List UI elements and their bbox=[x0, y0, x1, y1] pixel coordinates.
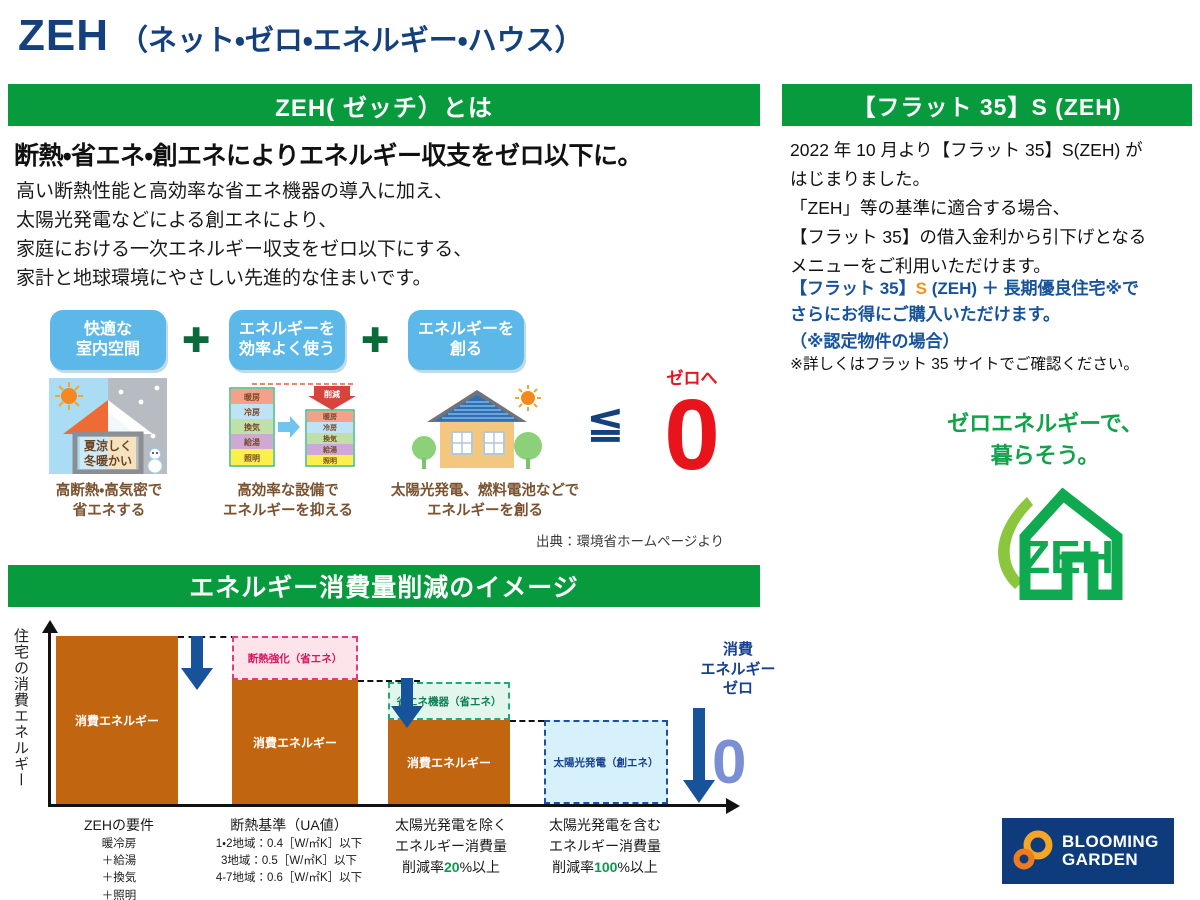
reduction-label-solar: 太陽光発電（創エネ） bbox=[554, 755, 659, 770]
bar-label-1: 消費エネルギー bbox=[75, 712, 159, 729]
svg-text:照明: 照明 bbox=[244, 454, 260, 463]
down-arrow-icon bbox=[682, 708, 716, 804]
x-label-1-sub-2: ＋給湯 bbox=[56, 853, 182, 870]
diagram-caption-1: 高断熱・高気密で省エネする bbox=[24, 482, 194, 521]
x-label-4: 太陽光発電を含む エネルギー消費量 削減率100%以上 bbox=[534, 816, 676, 878]
section-header-chart: エネルギー消費量削減のイメージ bbox=[8, 565, 760, 607]
energy-reduction-icon: 暖房冷房 換気給湯照明 削減 暖房冷房 換気給湯照明 bbox=[228, 378, 358, 474]
chip-generation-line1: エネルギーを bbox=[418, 320, 514, 340]
down-arrow-icon bbox=[390, 678, 424, 730]
reduction-block-insulation: 断熱強化（省エネ） bbox=[232, 636, 358, 680]
x-label-4-sub-1: エネルギー消費量 bbox=[534, 836, 676, 857]
house-label-line1: 夏涼しく bbox=[84, 438, 132, 453]
concept-chip-generation: エネルギーを 創る bbox=[408, 310, 524, 370]
house-label-line2: 冬暖かい bbox=[83, 453, 132, 468]
x-label-1: ZEHの要件 暖冷房 ＋給湯 ＋換気 ＋照明 bbox=[56, 816, 182, 900]
highlight-accent-s: S bbox=[916, 279, 927, 298]
svg-text:照明: 照明 bbox=[323, 456, 337, 465]
zero-target: ゼロへ 0 bbox=[642, 364, 742, 481]
flat35-line-1: 2022 年 10 月より【フラット 35】S(ZEH) が bbox=[790, 136, 1146, 165]
body-paragraph: 高い断熱性能と高効率な省エネ機器の導入に加え、 太陽光発電などによる創エネにより… bbox=[16, 178, 472, 294]
body-line-2: 太陽光発電などによる創エネにより、 bbox=[16, 207, 472, 236]
stack-after: 暖房冷房 換気給湯照明 bbox=[306, 410, 354, 466]
stack-before: 暖房冷房 換気給湯照明 bbox=[230, 388, 274, 466]
body-line-1: 高い断熱性能と高効率な省エネ機器の導入に加え、 bbox=[16, 178, 472, 207]
zeh-slogan: ゼロエネルギーで、 暮らそう。 bbox=[930, 408, 1160, 472]
plus-icon: ✚ bbox=[361, 324, 390, 358]
x-label-4-sub-2: 削減率100%以上 bbox=[534, 857, 676, 878]
brand-name-line1: BLOOMING bbox=[1062, 833, 1159, 851]
chart-y-axis bbox=[48, 628, 51, 806]
less-equal-icon: ≦ bbox=[586, 398, 625, 444]
x-label-4-main: 太陽光発電を含む bbox=[549, 817, 661, 833]
body-line-4: 家計と地球環境にやさしい先進的な住まいです。 bbox=[16, 265, 472, 294]
zeh-concept-diagram: 快適な 室内空間 ✚ エネルギーを 効率よく使う ✚ エネルギーを 創る bbox=[30, 302, 750, 557]
x-label-3-main: 太陽光発電を除く bbox=[395, 817, 507, 833]
flat35-highlight-line-2: さらにお得にご購入いただけます。 bbox=[790, 302, 1139, 328]
x-label-1-main: ZEHの要件 bbox=[84, 817, 154, 833]
diagram-caption-2: 高効率な設備でエネルギーを抑える bbox=[203, 482, 373, 521]
chip-efficiency-line1: エネルギーを bbox=[239, 320, 335, 340]
svg-text:給湯: 給湯 bbox=[322, 445, 337, 454]
zeh-logo-text: ZEH bbox=[1022, 531, 1114, 583]
page-title: ZEH （ネット・ゼロ・エネルギー・ハウス） bbox=[18, 14, 584, 58]
chip-comfort-line2: 室内空間 bbox=[76, 340, 140, 360]
svg-text:冷房: 冷房 bbox=[244, 407, 260, 417]
bar-label-2: 消費エネルギー bbox=[253, 734, 337, 751]
flat35-line-2: はじまりました。 bbox=[790, 165, 1146, 194]
page-title-kana: （ネット・ゼロ・エネルギー・ハウス） bbox=[119, 27, 584, 56]
solar-house-icon bbox=[402, 374, 562, 474]
x-label-3-sub-2: 削減率20%以上 bbox=[382, 857, 520, 878]
x-label-2-main: 断熱基準（UA値） bbox=[230, 817, 347, 833]
chart-x-axis bbox=[48, 804, 728, 807]
lead-statement: 断熱・省エネ・創エネによりエネルギー収支をゼロ以下に。 bbox=[14, 136, 642, 172]
bar-label-3: 消費エネルギー bbox=[407, 754, 491, 771]
reduction-block-solar: 太陽光発電（創エネ） bbox=[544, 720, 668, 804]
flat35-line-3: 「ZEH」等の基準に適合する場合、 bbox=[790, 194, 1146, 223]
svg-text:暖房: 暖房 bbox=[244, 392, 260, 402]
flat35-highlight: 【フラット 35】S (ZEH) ＋ 長期優良住宅※で さらにお得にご購入いただ… bbox=[790, 276, 1139, 355]
chart-zero-value: 0 bbox=[712, 732, 746, 794]
x-label-2-sub-3: 4-7地域：0.6［W/㎡K］以下 bbox=[196, 870, 382, 887]
x-label-3-sub-1: エネルギー消費量 bbox=[382, 836, 520, 857]
bar-zeh-requirement: 消費エネルギー bbox=[56, 636, 178, 804]
concept-chip-efficiency: エネルギーを 効率よく使う bbox=[229, 310, 345, 370]
x-label-1-sub-3: ＋換気 bbox=[56, 870, 182, 887]
down-arrow-icon bbox=[180, 636, 214, 692]
section-header-zeh: ZEH( ゼッチ）とは bbox=[8, 84, 760, 126]
brand-name-line2: GARDEN bbox=[1062, 851, 1159, 869]
svg-text:換気: 換気 bbox=[244, 422, 260, 432]
brand-name: BLOOMING GARDEN bbox=[1062, 833, 1159, 870]
highlight-post: (ZEH) ＋ 長期優良住宅※で bbox=[927, 279, 1139, 298]
reduction-label: 削減 bbox=[324, 389, 340, 399]
brand-logo: BLOOMING GARDEN bbox=[1002, 818, 1174, 884]
page-title-zeh: ZEH bbox=[18, 14, 109, 58]
x-label-1-sub-4: ＋照明 bbox=[56, 888, 182, 900]
bar-without-solar: 消費エネルギー bbox=[388, 720, 510, 804]
x-label-3: 太陽光発電を除く エネルギー消費量 削減率20%以上 bbox=[382, 816, 520, 878]
flat35-footnote: ※詳しくはフラット 35 サイトでご確認ください。 bbox=[790, 352, 1139, 374]
zeh-logo-icon: ZEH bbox=[975, 485, 1125, 600]
infographic-page: ZEH （ネット・ゼロ・エネルギー・ハウス） ZEH( ゼッチ）とは 【フラット… bbox=[0, 0, 1200, 900]
chart-y-axis-label: 住宅の消費エネルギー bbox=[10, 628, 31, 788]
bar-insulation-standard: 消費エネルギー bbox=[232, 680, 358, 804]
x-label-2: 断熱基準（UA値） 1・2地域：0.4［W/㎡K］以下 3地域：0.5［W/㎡K… bbox=[196, 816, 382, 888]
diagram-caption-3: 太陽光発電、燃料電池などでエネルギーを創る bbox=[370, 482, 600, 521]
x-label-1-sub-1: 暖冷房 bbox=[56, 836, 182, 853]
insulated-house-icon: 夏涼しく 冬暖かい bbox=[49, 378, 167, 474]
svg-text:冷房: 冷房 bbox=[323, 423, 337, 432]
plus-icon: ✚ bbox=[182, 324, 211, 358]
chip-comfort-line1: 快適な bbox=[84, 320, 132, 340]
svg-text:換気: 換気 bbox=[323, 434, 337, 443]
flat35-description: 2022 年 10 月より【フラット 35】S(ZEH) が はじまりました。 … bbox=[790, 136, 1146, 281]
reduction-label-insulation: 断熱強化（省エネ） bbox=[248, 651, 343, 666]
body-line-3: 家庭における一次エネルギー収支をゼロ以下にする、 bbox=[16, 236, 472, 265]
x-label-2-sub-1: 1・2地域：0.4［W/㎡K］以下 bbox=[196, 836, 382, 853]
source-note: 出典：環境省ホームページより bbox=[536, 530, 724, 550]
chip-efficiency-line2: 効率よく使う bbox=[239, 340, 335, 360]
energy-reduction-chart: 住宅の消費エネルギー 消費エネルギー 断熱強化（省エネ） 消費エネルギー 省エネ… bbox=[0, 620, 790, 900]
x-axis-arrow-icon bbox=[724, 797, 740, 815]
svg-text:暖房: 暖房 bbox=[323, 412, 337, 421]
svg-text:給湯: 給湯 bbox=[243, 437, 260, 447]
slogan-line-2: 暮らそう。 bbox=[930, 440, 1160, 472]
flat35-line-4: 【フラット 35】の借入金利から引下げとなる bbox=[790, 223, 1146, 252]
section-header-flat35: 【フラット 35】S (ZEH) bbox=[782, 84, 1192, 126]
slogan-line-1: ゼロエネルギーで、 bbox=[930, 408, 1160, 440]
flat35-highlight-line-1: 【フラット 35】S (ZEH) ＋ 長期優良住宅※で bbox=[790, 276, 1139, 302]
zero-target-value: 0 bbox=[642, 389, 742, 481]
chip-generation-line2: 創る bbox=[450, 340, 482, 360]
concept-chip-comfort: 快適な 室内空間 bbox=[50, 310, 166, 370]
y-axis-arrow-icon bbox=[41, 620, 59, 634]
x-label-2-sub-2: 3地域：0.5［W/㎡K］以下 bbox=[196, 853, 382, 870]
highlight-pre: 【フラット 35】 bbox=[790, 279, 916, 298]
chart-zero-note: 消費エネルギーゼロ bbox=[690, 640, 786, 699]
snowman-icon bbox=[148, 449, 162, 474]
brand-mark-icon bbox=[1012, 830, 1054, 872]
